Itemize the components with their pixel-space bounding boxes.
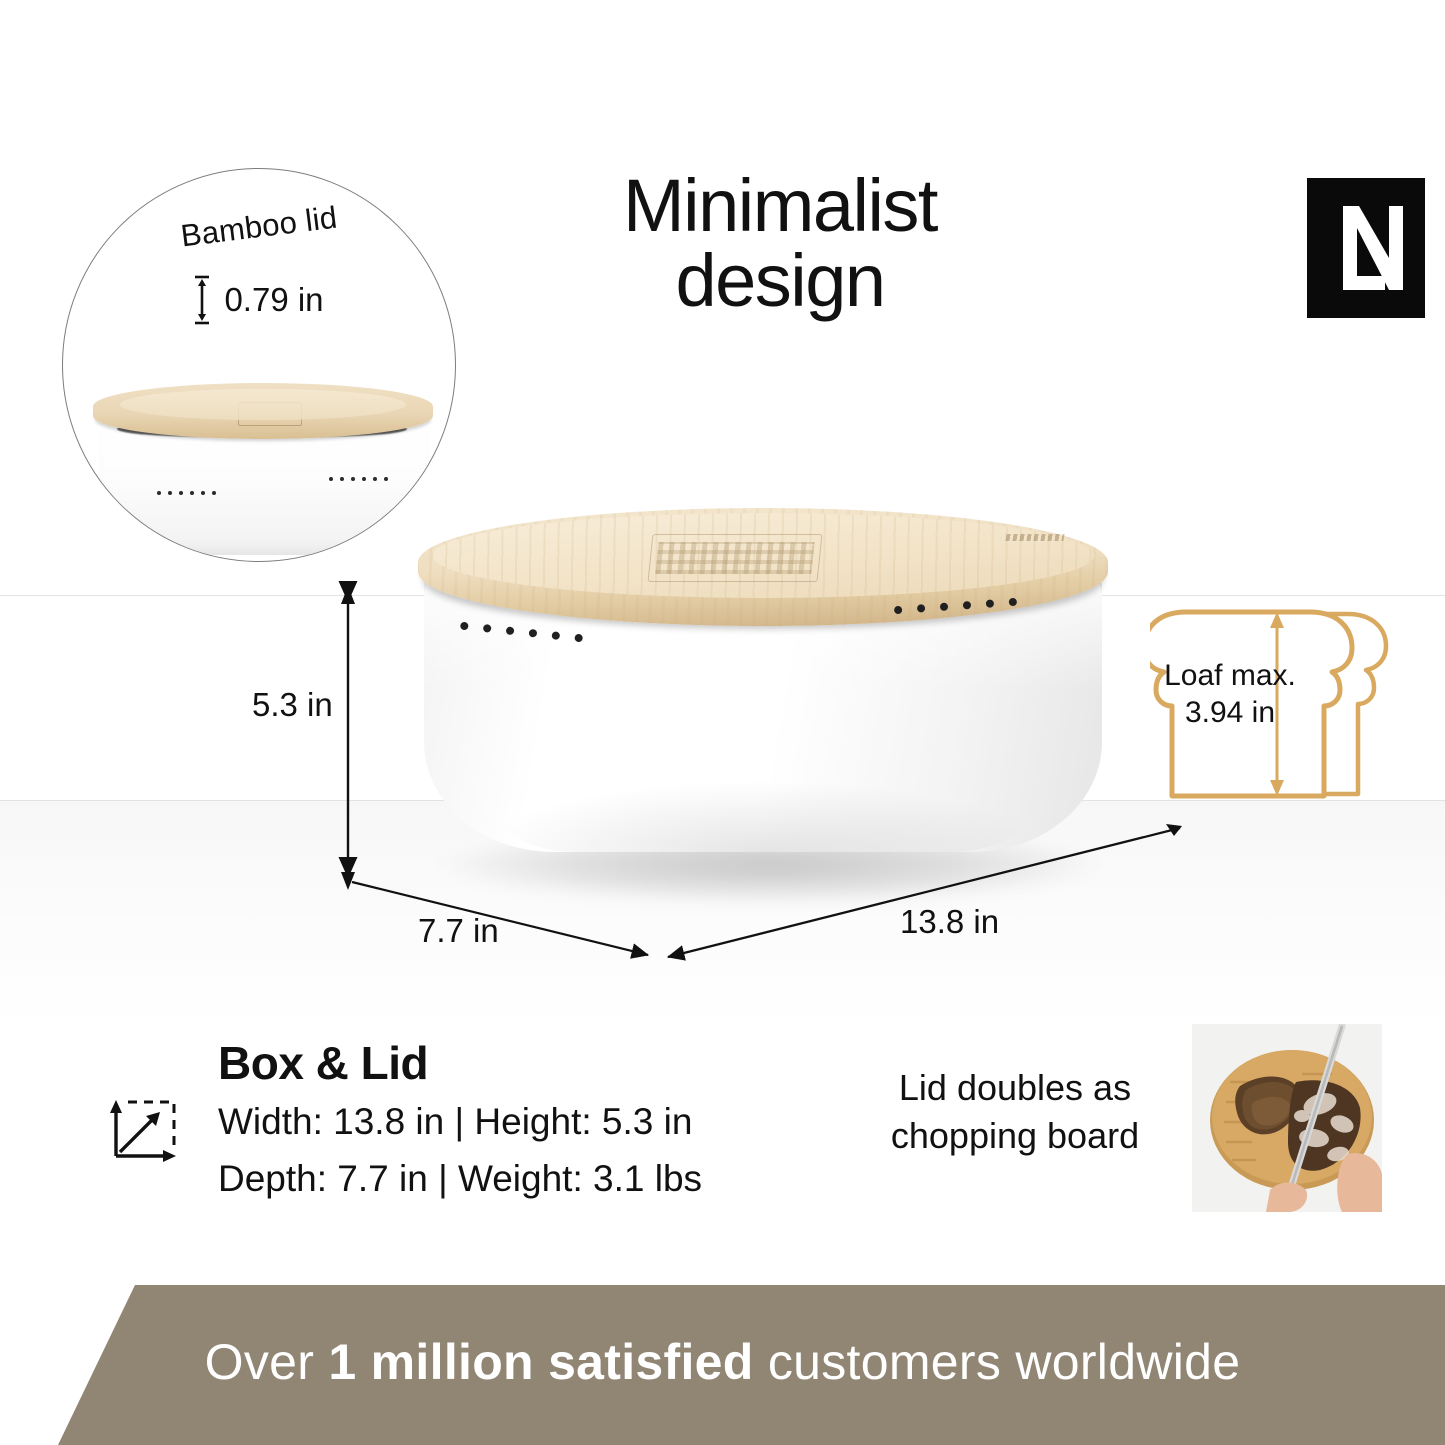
- mini-bamboo-lid: [93, 383, 433, 439]
- bamboo-lid: [418, 508, 1108, 626]
- bread-slicing-photo: [1192, 1024, 1382, 1212]
- bamboo-lid-label: Bamboo lid: [62, 185, 455, 269]
- mini-lid-engraving: [238, 402, 302, 426]
- mini-vent-holes-right: [329, 477, 388, 481]
- height-measure-icon: [194, 274, 210, 326]
- title-line-1: Minimalist: [623, 164, 937, 247]
- product-image: [404, 496, 1124, 916]
- infographic-canvas: Minimalist design Bamboo lid 0.79 in: [0, 0, 1445, 1445]
- brand-logo-icon: [1307, 178, 1425, 318]
- loaf-label-line-2: 3.94 in: [1150, 695, 1310, 732]
- title-line-2: design: [440, 243, 1120, 318]
- mini-product-body: [99, 425, 429, 555]
- chopping-board-line-2: chopping board: [860, 1112, 1170, 1160]
- chopping-board-feature: Lid doubles as chopping board: [860, 1024, 1380, 1224]
- banner-prefix: Over: [205, 1334, 329, 1390]
- specifications-text: Box & Lid Width: 13.8 in | Height: 5.3 i…: [218, 1036, 702, 1204]
- lid-engraved-logo: [648, 534, 823, 582]
- page-title: Minimalist design: [440, 168, 1120, 319]
- loaf-max-badge: Loaf max. 3.94 in: [1150, 598, 1395, 808]
- loaf-max-label: Loaf max. 3.94 in: [1150, 658, 1310, 731]
- specifications-line-2: Depth: 7.7 in | Weight: 3.1 lbs: [218, 1153, 702, 1204]
- specifications-line-1: Width: 13.8 in | Height: 5.3 in: [218, 1096, 702, 1147]
- banner-text: Over 1 million satisfied customers world…: [0, 1333, 1445, 1391]
- mini-vent-holes-left: [157, 491, 216, 495]
- chopping-board-text: Lid doubles as chopping board: [860, 1064, 1170, 1159]
- lid-thickness-measure: 0.79 in: [63, 274, 455, 326]
- dimension-depth-label: 7.7 in: [418, 912, 499, 950]
- specifications-title: Box & Lid: [218, 1036, 702, 1090]
- lid-wordmark: [1005, 534, 1064, 541]
- dimension-width-label: 13.8 in: [900, 903, 999, 941]
- mini-product-illustration: [62, 369, 456, 562]
- banner-emphasis: 1 million satisfied: [328, 1334, 753, 1390]
- banner-suffix: customers worldwide: [754, 1334, 1241, 1390]
- chopping-board-line-1: Lid doubles as: [860, 1064, 1170, 1112]
- loaf-label-line-1: Loaf max.: [1150, 658, 1310, 695]
- bamboo-lid-callout: Bamboo lid 0.79 in: [62, 168, 456, 562]
- lid-thickness-value: 0.79 in: [224, 281, 323, 319]
- dimension-height-label: 5.3 in: [252, 686, 333, 724]
- bottom-banner: Over 1 million satisfied customers world…: [0, 1285, 1445, 1445]
- dimensions-arrows-icon: [108, 1094, 180, 1166]
